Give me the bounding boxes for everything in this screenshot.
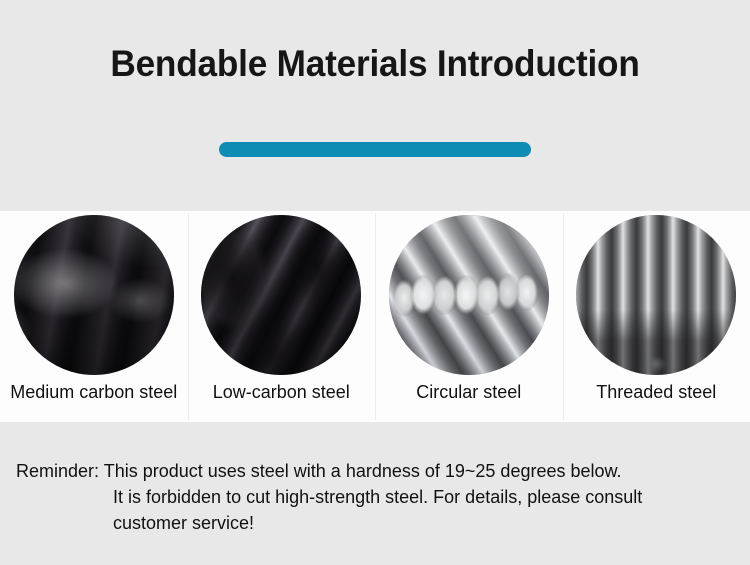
reminder-line-3: customer service! [16, 510, 736, 536]
materials-card-panel: Medium carbon steel Low-carbon steel Cir… [0, 211, 750, 422]
low-carbon-steel-photo [201, 215, 361, 375]
reminder-note: Reminder: This product uses steel with a… [16, 458, 736, 536]
material-card-label: Medium carbon steel [10, 381, 177, 403]
reminder-line-1: Reminder: This product uses steel with a… [16, 458, 736, 484]
steel-texture [576, 215, 736, 375]
material-card-threaded-steel[interactable]: Threaded steel [563, 211, 750, 422]
steel-texture [14, 215, 174, 375]
threaded-steel-photo [576, 215, 736, 375]
material-card-label: Circular steel [416, 381, 521, 403]
page-title: Bendable Materials Introduction [19, 43, 732, 85]
material-card-label: Low-carbon steel [213, 381, 350, 403]
material-card-circular-steel[interactable]: Circular steel [375, 211, 563, 422]
materials-introduction-page: Bendable Materials Introduction Medium c… [0, 0, 750, 565]
circular-steel-photo [389, 215, 549, 375]
reminder-line-2: It is forbidden to cut high-strength ste… [16, 484, 736, 510]
material-card-label: Threaded steel [596, 381, 716, 403]
title-underline-bar [219, 142, 531, 157]
medium-carbon-steel-photo [14, 215, 174, 375]
material-card-low-carbon-steel[interactable]: Low-carbon steel [188, 211, 376, 422]
steel-texture [201, 215, 361, 375]
steel-texture [389, 215, 549, 375]
material-card-medium-carbon-steel[interactable]: Medium carbon steel [0, 211, 188, 422]
